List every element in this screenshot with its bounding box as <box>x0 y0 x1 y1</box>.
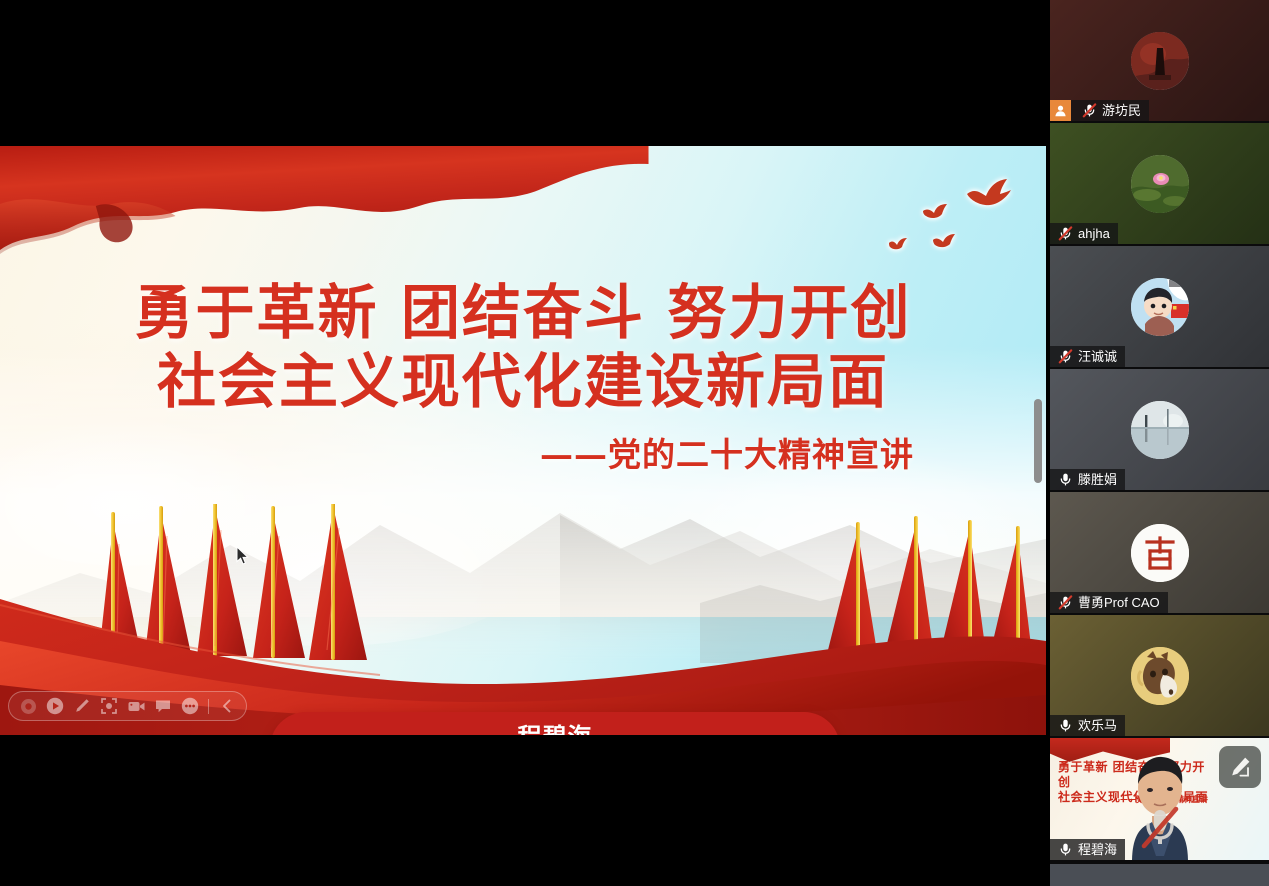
avatar <box>1131 155 1189 213</box>
participant-namebar: 程碧海 <box>1050 839 1125 860</box>
participant-name: 欢乐马 <box>1078 719 1117 732</box>
participant-name: 汪诚诚 <box>1078 350 1117 363</box>
participant-filmstrip[interactable]: 游坊民 <box>1050 0 1269 886</box>
chat-bubble-icon[interactable] <box>151 694 175 718</box>
participant-video-tile[interactable]: 勇于革新 团结奋斗 努力开创 社会主义现代化建设新局面 ——党的二十大精神宣讲 <box>1050 738 1269 862</box>
mic-unmuted-icon <box>1058 472 1073 487</box>
participant-namebar: 汪诚诚 <box>1050 346 1125 367</box>
video-camera-icon[interactable] <box>124 694 148 718</box>
mic-unmuted-icon <box>1058 718 1073 733</box>
participant-name: 游坊民 <box>1102 104 1141 117</box>
participant-name: 程碧海 <box>1078 843 1117 856</box>
presentation-slide[interactable]: 勇于革新 团结奋斗 努力开创 社会主义现代化建设新局面 ——党的二十大精神宣讲 … <box>0 146 1046 735</box>
participant-tile[interactable]: 汪诚诚 <box>1050 246 1269 369</box>
filmstrip-scrollbar-thumb[interactable] <box>1034 399 1042 483</box>
presenter-name: 程碧海 <box>518 717 593 735</box>
participant-tile[interactable]: ahjha <box>1050 123 1269 246</box>
chevron-left-icon[interactable] <box>215 694 239 718</box>
presenter-pill: 程碧海 2022. 12. 15 <box>270 712 840 735</box>
participant-tile-partial[interactable] <box>1050 862 1269 886</box>
record-button[interactable] <box>16 694 40 718</box>
host-badge-icon <box>1050 100 1071 121</box>
mic-muted-icon <box>1058 226 1073 241</box>
participant-tile[interactable]: 游坊民 <box>1050 0 1269 123</box>
participant-namebar: 欢乐马 <box>1050 715 1125 736</box>
focus-frame-icon[interactable] <box>97 694 121 718</box>
doves-group <box>836 160 1016 275</box>
mic-muted-icon <box>1058 595 1073 610</box>
shared-screen-stage: 勇于革新 团结奋斗 努力开创 社会主义现代化建设新局面 ——党的二十大精神宣讲 … <box>0 0 1049 886</box>
annotate-button[interactable] <box>1219 746 1261 788</box>
mic-muted-overlay-icon <box>1140 806 1180 850</box>
slide-title-line-2: 社会主义现代化建设新局面 <box>0 347 1046 416</box>
conference-screen: 勇于革新 团结奋斗 努力开创 社会主义现代化建设新局面 ——党的二十大精神宣讲 … <box>0 0 1269 886</box>
participant-tile[interactable]: 滕胜娟 <box>1050 369 1269 492</box>
avatar <box>1131 524 1189 582</box>
avatar <box>1131 32 1189 90</box>
participant-namebar: 游坊民 <box>1050 100 1149 121</box>
more-dots-icon[interactable] <box>178 694 202 718</box>
participant-name: 曹勇Prof CAO <box>1078 596 1160 609</box>
participant-namebar: 滕胜娟 <box>1050 469 1125 490</box>
dove-icon-small-1 <box>932 234 956 250</box>
dove-icon-small-2 <box>888 238 908 252</box>
avatar <box>1131 647 1189 705</box>
avatar <box>1131 278 1189 336</box>
participant-tile[interactable]: 曹勇Prof CAO <box>1050 492 1269 615</box>
mic-unmuted-icon <box>1058 842 1073 857</box>
pencil-icon <box>1228 755 1252 779</box>
slide-title-line-1: 勇于革新 团结奋斗 努力开创 <box>0 278 1046 347</box>
mouse-cursor <box>236 546 250 566</box>
participant-tile[interactable]: 欢乐马 <box>1050 615 1269 738</box>
participant-namebar: ahjha <box>1050 223 1118 244</box>
play-button[interactable] <box>43 694 67 718</box>
red-flag-drape <box>0 146 649 296</box>
participant-name: 滕胜娟 <box>1078 473 1117 486</box>
avatar <box>1131 401 1189 459</box>
annotation-toolbar[interactable] <box>8 691 247 721</box>
participant-name: ahjha <box>1078 227 1110 240</box>
mic-muted-icon <box>1058 349 1073 364</box>
toolbar-divider <box>208 699 209 714</box>
dove-icon-large <box>966 178 1012 208</box>
mic-muted-icon <box>1082 103 1097 118</box>
slide-title: 勇于革新 团结奋斗 努力开创 社会主义现代化建设新局面 <box>0 278 1046 416</box>
dove-icon-mid <box>922 204 948 221</box>
participant-namebar: 曹勇Prof CAO <box>1050 592 1168 613</box>
slide-subtitle: ——党的二十大精神宣讲 <box>540 428 914 476</box>
pencil-icon[interactable] <box>70 694 94 718</box>
